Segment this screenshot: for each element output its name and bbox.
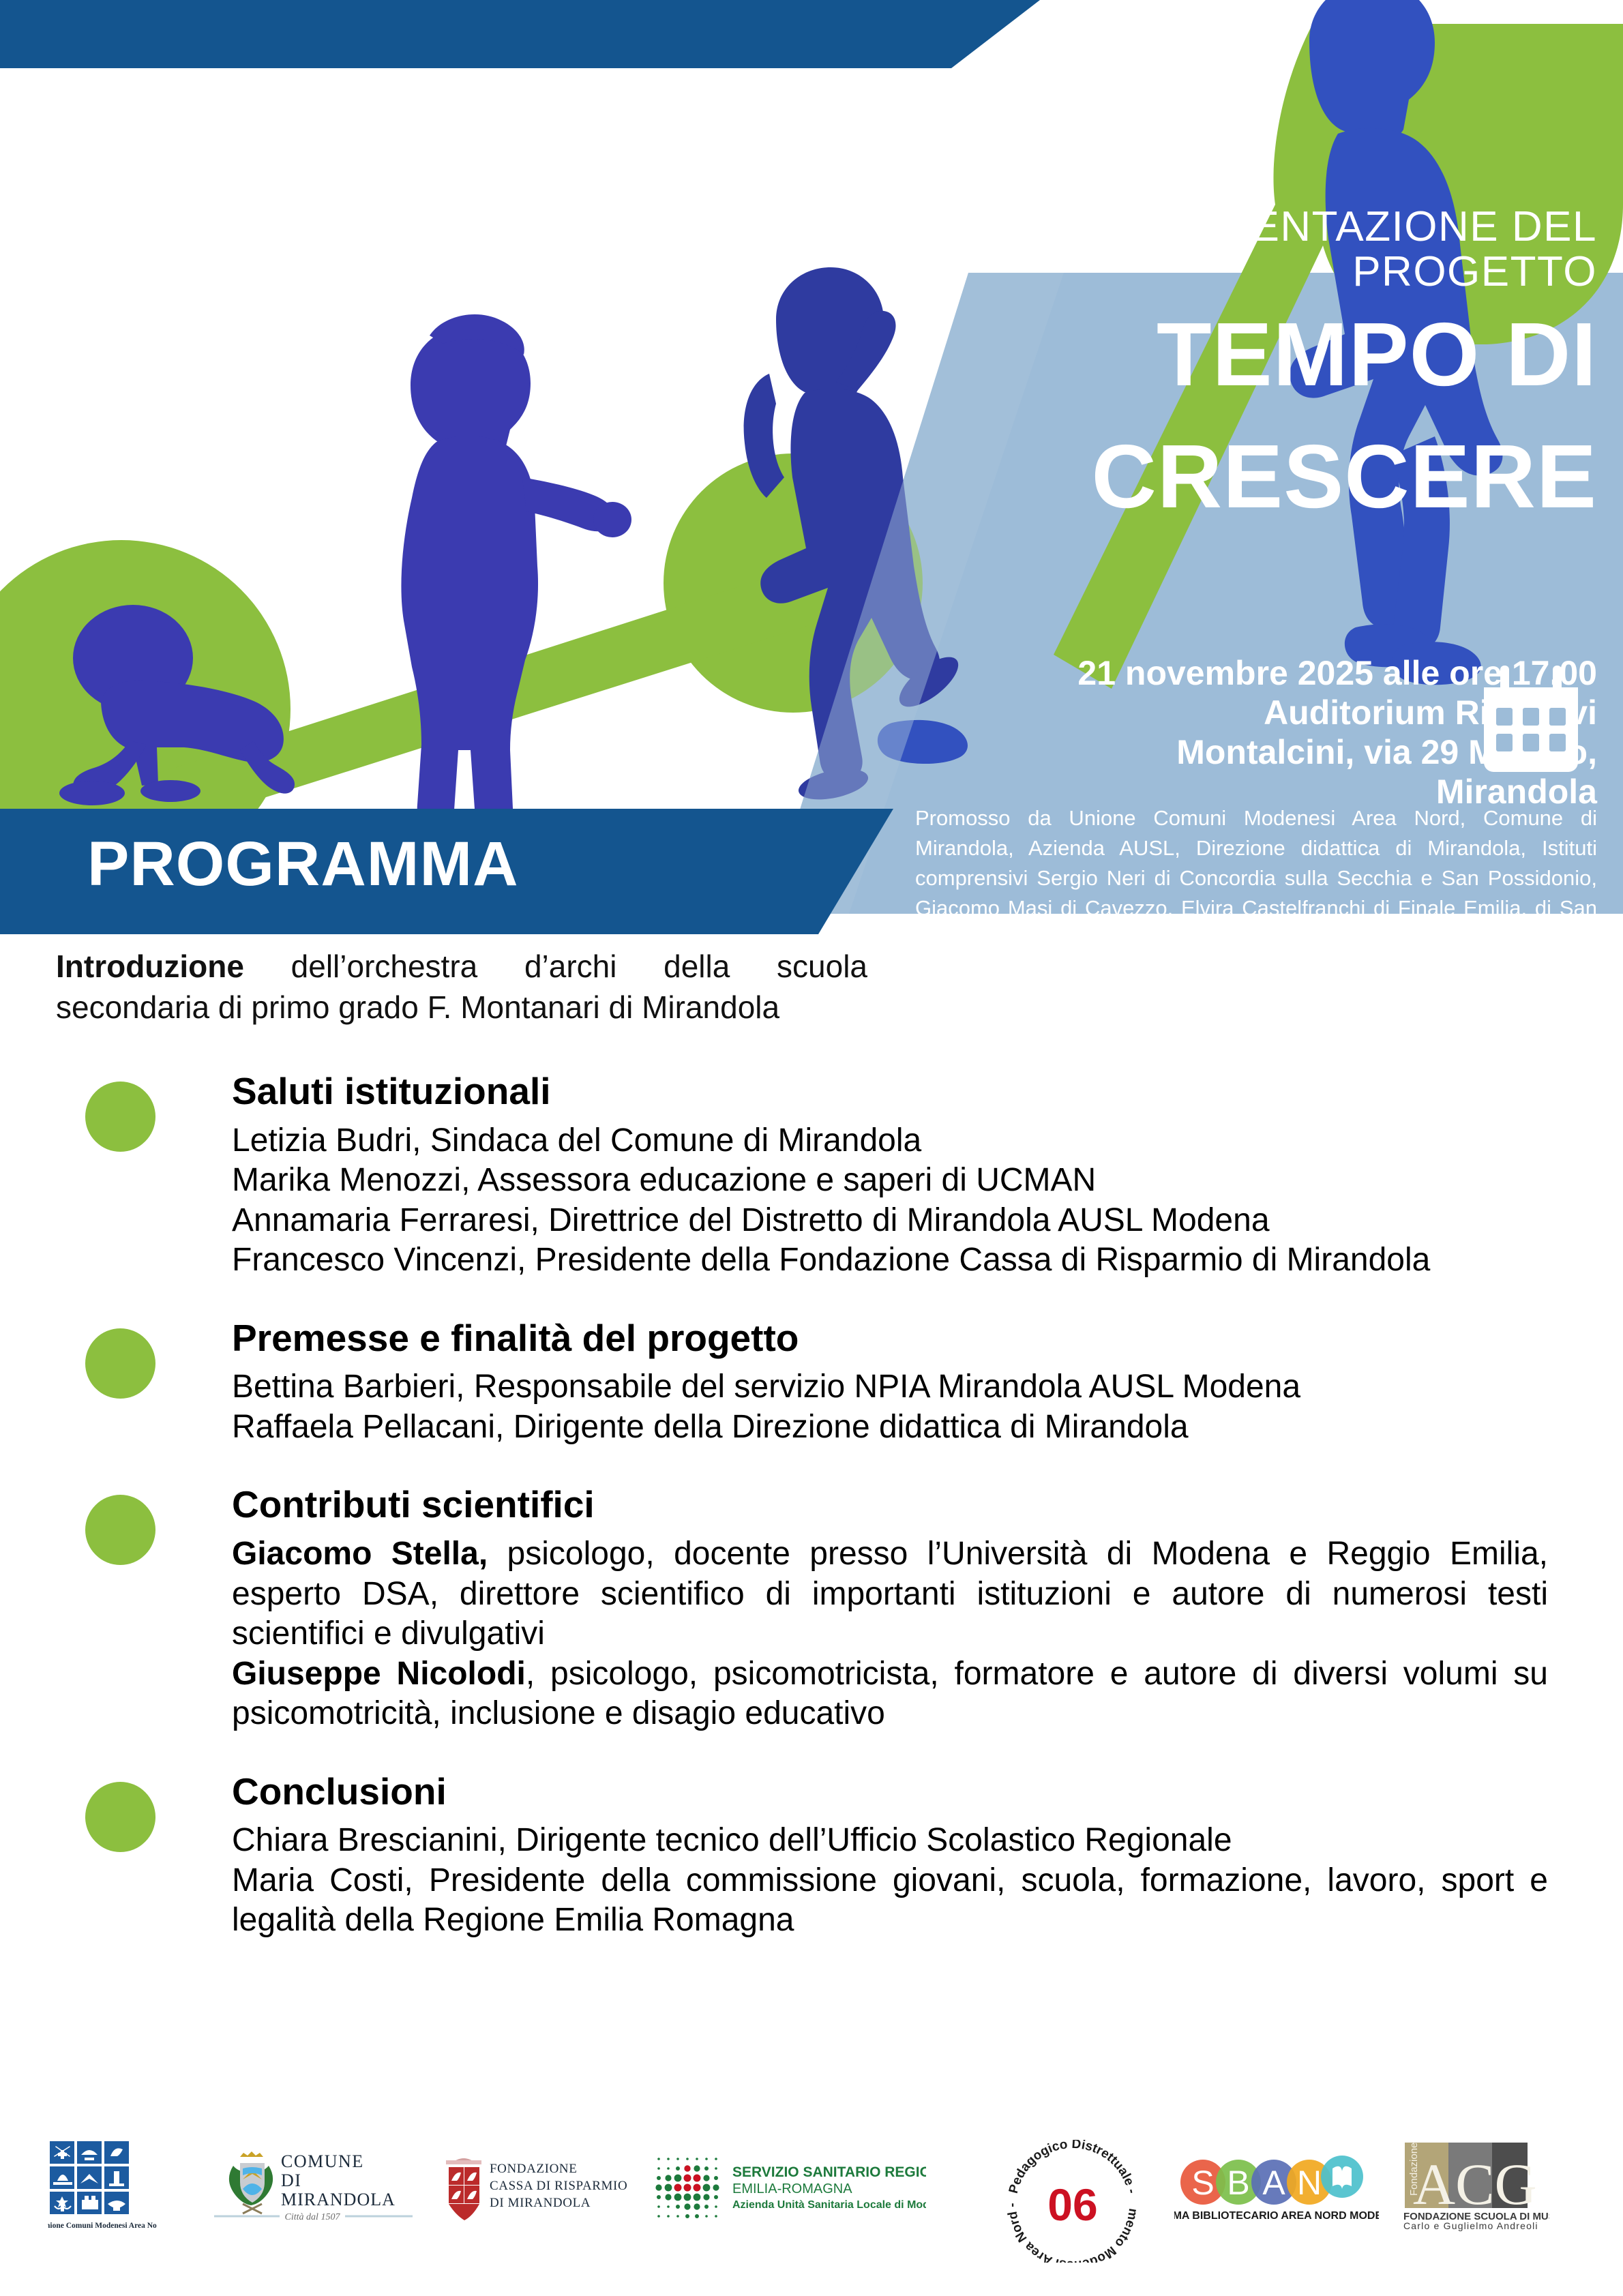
sban-letter-n: N (1297, 2164, 1322, 2202)
sban-caption: SISTEMA BIBLIOTECARIO AREA NORD MODENESE (1174, 2210, 1379, 2222)
hero-kicker-line1: PRESENTAZIONE DEL (1132, 203, 1597, 250)
sban-letter-b: B (1227, 2164, 1249, 2202)
intro-label: Introduzione (56, 949, 244, 984)
program-speaker: Giacomo Stella, psicologo, docente press… (232, 1534, 1548, 1654)
fondazione-cassa-risparmio-mirandola-logo: FONDAZIONE CASSA DI RISPARMIO DI MIRANDO… (442, 2149, 667, 2226)
program-item-saluti: Saluti istituzionali Letizia Budri, Sind… (75, 1071, 1548, 1281)
fondazione-line2: CASSA DI RISPARMIO (490, 2179, 627, 2193)
hero-kicker: PRESENTAZIONE DEL PROGETTO (929, 205, 1597, 294)
program-item-title: Conclusioni (232, 1771, 1548, 1813)
program-speaker: Marika Menozzi, Assessora educazione e s… (232, 1161, 1548, 1201)
ausl-line3: Azienda Unità Sanitaria Locale di Modena (732, 2199, 926, 2211)
acg-letters: ACG (1413, 2151, 1537, 2217)
comune-line2: DI (281, 2171, 301, 2190)
coordinamento-pedagogico-distrettuale-logo: Pedagogico Distrettuale - Coordinamento … (1001, 2140, 1144, 2263)
acg-fondazione-scuola-musica-logo: ACG Fondazione FONDAZIONE SCUOLA DI MUSI… (1393, 2143, 1549, 2231)
comune-tagline: Città dal 1507 (285, 2212, 341, 2222)
comune-di-mirandola-logo: COMUNE DI MIRANDOLA Città dal 1507 (205, 2148, 423, 2230)
program-speaker: Giuseppe Nicolodi, psicologo, psicomotri… (232, 1654, 1548, 1734)
program-speaker: Letizia Budri, Sindaca del Comune di Mir… (232, 1121, 1548, 1161)
cpd-number: 06 (1047, 2179, 1097, 2230)
program-item-title: Saluti istituzionali (232, 1071, 1548, 1113)
fondazione-line3: DI MIRANDOLA (490, 2196, 591, 2210)
programma-title: PROGRAMMA (87, 829, 519, 900)
hero-main-title: TEMPO DI CRESCERE (929, 309, 1597, 522)
sban-logo: S B A N SISTEMA BIBLIOTECARIO AREA NORD … (1174, 2153, 1379, 2225)
footer-logos: Unione Comuni Modenesi Area Nord COMUNE … (0, 2128, 1623, 2296)
program-speaker: Chiara Brescianini, Dirigente tecnico de… (232, 1821, 1548, 1861)
program-item-contributi: Contributi scientifici Giacomo Stella, p… (75, 1484, 1548, 1733)
program-speaker: Maria Costi, Presidente della commission… (232, 1861, 1548, 1941)
ucman-logo: Unione Comuni Modenesi Area Nord (48, 2141, 157, 2233)
program-item-premesse: Premesse e finalità del progetto Bettina… (75, 1317, 1548, 1448)
speaker-name: Giacomo Stella, (232, 1536, 488, 1572)
program-speaker: Raffaela Pellacani, Dirigente della Dire… (232, 1407, 1548, 1448)
comune-line3: MIRANDOLA (281, 2190, 396, 2209)
ausl-line1: SERVIZIO SANITARIO REGIONALE (732, 2164, 926, 2180)
promoters-text: Promosso da Unione Comuni Modenesi Area … (915, 803, 1597, 983)
sban-letter-a: A (1262, 2164, 1285, 2202)
hero-title-line1: TEMPO DI (1157, 304, 1597, 404)
program-speaker: Francesco Vincenzi, Presidente della Fon… (232, 1240, 1548, 1281)
bullet-dot-icon (85, 1782, 155, 1852)
acg-vertical-label: Fondazione (1408, 2143, 1420, 2196)
bullet-dot-icon (85, 1495, 155, 1565)
fondazione-line1: FONDAZIONE (490, 2162, 577, 2176)
bullet-dot-icon (85, 1328, 155, 1399)
calendar-icon (1480, 663, 1582, 786)
program-item-conclusioni: Conclusioni Chiara Brescianini, Dirigent… (75, 1771, 1548, 1941)
hero-title-line2: CRESCERE (929, 431, 1597, 523)
comune-line1: COMUNE (281, 2151, 364, 2171)
ausl-line2: EMILIA-ROMAGNA (732, 2181, 852, 2196)
program-speaker: Annamaria Ferraresi, Direttrice del Dist… (232, 1201, 1548, 1241)
acg-caption2: Carlo e Guglielmo Andreoli (1403, 2220, 1538, 2231)
intro-paragraph: Introduzione dell’orchestra d’archi dell… (56, 946, 867, 1028)
ucman-logo-caption: Unione Comuni Modenesi Area Nord (48, 2222, 157, 2230)
hero-title-block: PRESENTAZIONE DEL PROGETTO TEMPO DI CRES… (929, 205, 1597, 523)
program-list: Saluti istituzionali Letizia Budri, Sind… (75, 1071, 1548, 1978)
servizio-sanitario-regionale-logo: SERVIZIO SANITARIO REGIONALE EMILIA-ROMA… (653, 2153, 926, 2222)
sban-letter-s: S (1191, 2164, 1214, 2202)
program-speaker: Bettina Barbieri, Responsabile del servi… (232, 1367, 1548, 1407)
speaker-name: Giuseppe Nicolodi (232, 1656, 526, 1692)
hero-kicker-line2: PROGETTO (1352, 248, 1597, 295)
program-item-title: Contributi scientifici (232, 1484, 1548, 1526)
bullet-dot-icon (85, 1082, 155, 1152)
program-item-title: Premesse e finalità del progetto (232, 1317, 1548, 1360)
